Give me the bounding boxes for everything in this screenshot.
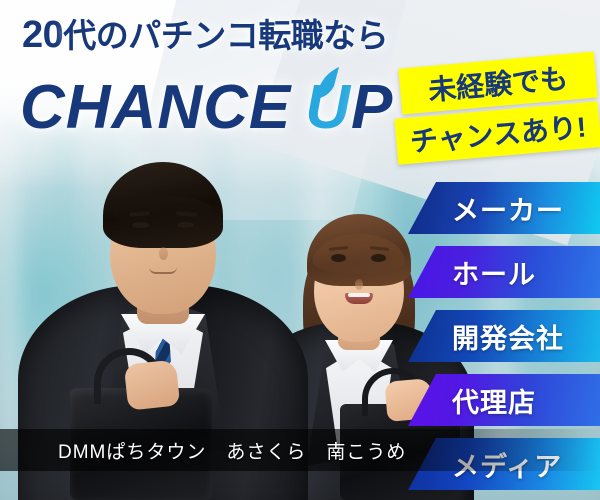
category-label-agency: 代理店 xyxy=(452,381,536,420)
headline-text: 20代のパチンコ転職なら xyxy=(22,16,442,54)
man-eye-left xyxy=(132,222,149,228)
headline-number: 20 xyxy=(22,14,63,56)
category-label-maker: メーカー xyxy=(452,189,564,228)
badge-no-experience-label: 未経験でも xyxy=(427,57,570,109)
category-label-hall: ホール xyxy=(452,253,536,292)
logo-letter-p: P xyxy=(351,73,393,142)
category-button-agency[interactable]: 代理店 xyxy=(408,374,600,426)
man-hand xyxy=(124,359,181,410)
category-label-development-company: 開発会社 xyxy=(452,317,564,356)
category-button-development-company[interactable]: 開発会社 xyxy=(408,310,600,362)
man-hair xyxy=(103,162,223,248)
logo-letter-u: U xyxy=(305,73,351,142)
logo-word-up: UP xyxy=(305,73,393,142)
chance-up-logo: CHANCEUP xyxy=(20,68,420,148)
category-button-hall[interactable]: ホール xyxy=(408,246,600,298)
caption-text: DMMぱちタウン あさくら 南こうめ xyxy=(58,437,406,464)
woman-eye-left xyxy=(331,254,346,262)
category-button-maker[interactable]: メーカー xyxy=(408,182,600,234)
caption-bar: DMMぱちタウン あさくら 南こうめ xyxy=(0,429,600,471)
man-eye-right xyxy=(177,222,194,228)
woman-mouth xyxy=(345,293,373,304)
advertisement-banner[interactable]: 20代のパチンコ転職なら CHANCEUP 未経験でも チャンスあり! メーカー… xyxy=(0,0,600,500)
woman-eye-right xyxy=(371,254,386,262)
woman-nose xyxy=(355,279,363,290)
headline-remainder: 代のパチンコ転職なら xyxy=(63,17,388,54)
man-nose xyxy=(159,247,168,260)
logo-word-chance: CHANCE xyxy=(20,73,291,142)
man-mouth xyxy=(149,267,177,274)
